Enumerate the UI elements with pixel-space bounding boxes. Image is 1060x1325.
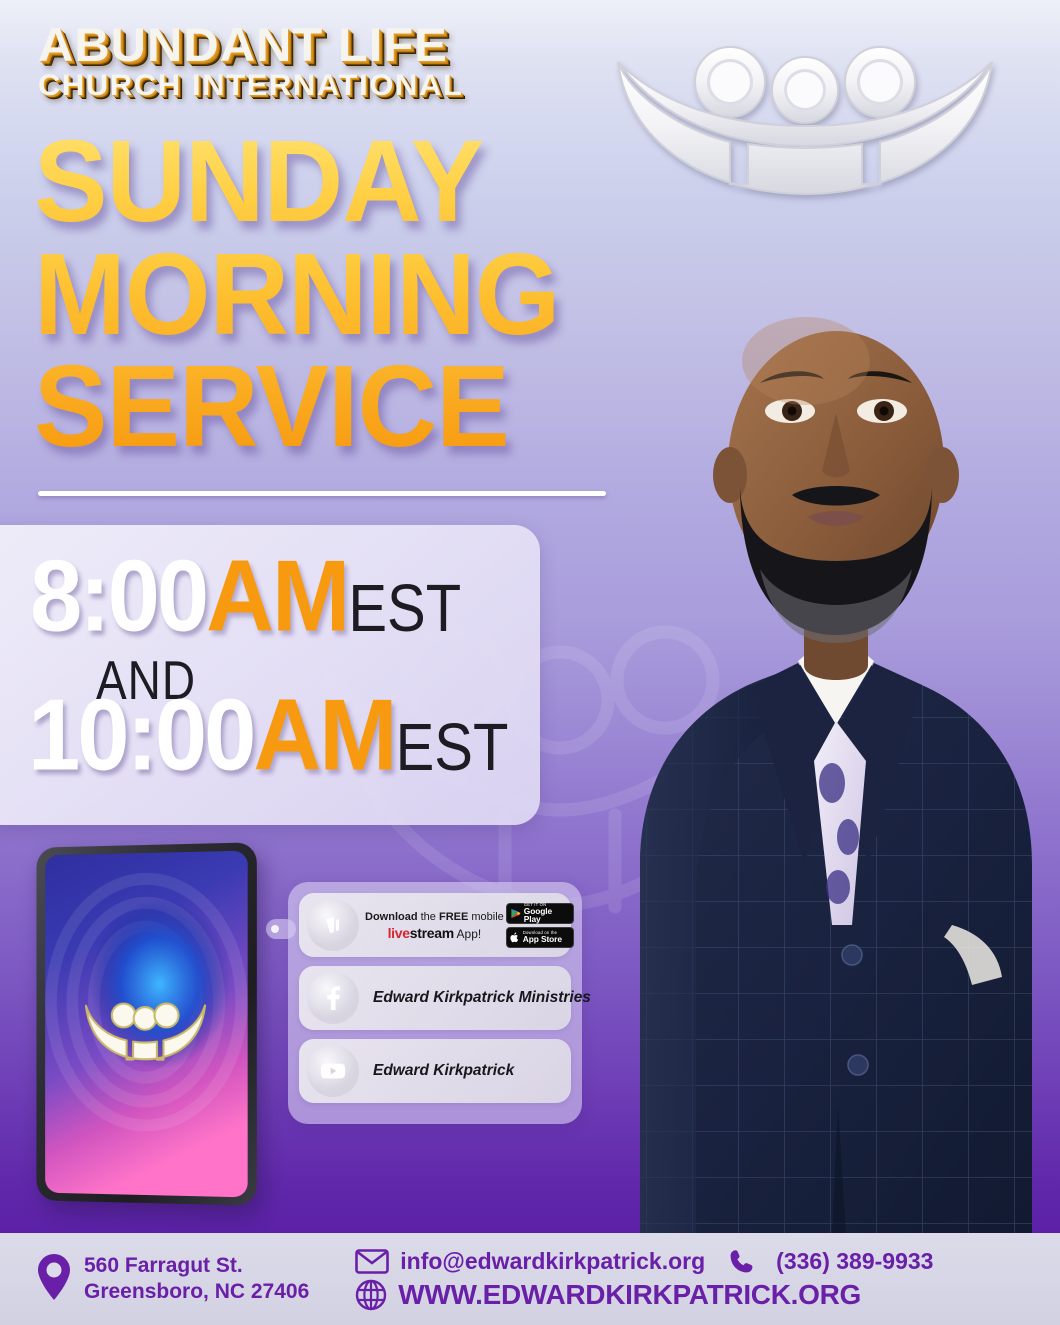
app-store-badge[interactable]: Download on the App Store <box>506 927 574 948</box>
google-play-badge-text: GET IT ON Google Play <box>524 903 570 924</box>
google-play-badge[interactable]: GET IT ON Google Play <box>506 903 574 924</box>
google-play-big: Google Play <box>524 907 570 924</box>
livestream-line-2: livestream App! <box>388 927 482 941</box>
footer-email[interactable]: info@edwardkirkpatrick.org <box>400 1248 705 1275</box>
logo-line-1: ABUNDANT LIFE <box>38 22 468 68</box>
youtube-icon <box>307 1045 359 1097</box>
tablet-screen <box>45 851 248 1198</box>
footer-phone[interactable]: (336) 389-9933 <box>776 1248 933 1275</box>
first-time-timezone: EST <box>348 576 461 643</box>
service-time-second: 10:00AMEST <box>28 688 508 782</box>
app-store-badge-text: Download on the App Store <box>523 931 562 944</box>
the-word: the <box>418 911 439 923</box>
footer-contact-block: info@edwardkirkpatrick.org (336) 389-993… <box>355 1248 933 1311</box>
page-title: SUNDAY MORNING SERVICE <box>34 128 530 450</box>
livestream-brand: livestream <box>388 925 454 941</box>
facebook-page-name: Edward Kirkpatrick Ministries <box>363 989 591 1007</box>
second-time-value: 10:00 <box>28 684 253 786</box>
footer-row-website: WWW.EDWARDKIRKPATRICK.ORG <box>355 1279 933 1311</box>
free-word: FREE <box>439 911 468 923</box>
church-logo-wordmark: ABUNDANT LIFE CHURCH INTERNATIONAL <box>38 22 451 101</box>
facebook-link-card[interactable]: Edward Kirkpatrick Ministries <box>299 966 571 1030</box>
pastor-portrait <box>600 165 1060 1235</box>
flyer-canvas: ABUNDANT LIFE CHURCH INTERNATIONAL SUNDA… <box>0 0 1060 1325</box>
second-time-timezone: EST <box>396 715 509 782</box>
mobile-word: mobile <box>468 911 503 923</box>
footer-address-block: 560 Farragut St. Greensboro, NC 27406 <box>36 1253 309 1306</box>
app-store-big: App Store <box>523 935 562 943</box>
first-time-meridiem: AM <box>206 545 348 647</box>
headline-divider <box>38 491 606 496</box>
livestream-brand-red: live <box>388 925 410 941</box>
google-play-icon <box>510 908 521 919</box>
livestream-line-1: Download the FREE mobile <box>365 911 504 923</box>
footer-contact-bar: 560 Farragut St. Greensboro, NC 27406 in… <box>0 1233 1060 1325</box>
logo-line-2: CHURCH INTERNATIONAL <box>38 71 463 101</box>
address-line-2: Greensboro, NC 27406 <box>84 1279 309 1305</box>
panel-connector-tab <box>266 919 296 939</box>
livestream-app-icon <box>307 899 359 951</box>
livestream-brand-dark: stream <box>410 925 454 941</box>
download-word: Download <box>365 911 418 923</box>
envelope-icon <box>355 1249 389 1274</box>
location-pin-icon <box>36 1253 72 1306</box>
tablet-preview <box>36 842 256 1205</box>
apple-icon <box>510 932 520 943</box>
headline-line-1: SUNDAY <box>34 128 559 236</box>
footer-address-text: 560 Farragut St. Greensboro, NC 27406 <box>84 1253 309 1304</box>
footer-row-email-phone: info@edwardkirkpatrick.org (336) 389-993… <box>355 1248 933 1275</box>
social-links-panel: Download the FREE mobile livestream App! <box>288 882 582 1124</box>
second-time-meridiem: AM <box>253 684 395 786</box>
address-line-1: 560 Farragut St. <box>84 1253 309 1279</box>
globe-icon <box>355 1279 387 1311</box>
app-word: App! <box>454 927 481 941</box>
headline-line-3: SERVICE <box>34 353 559 461</box>
footer-website[interactable]: WWW.EDWARDKIRKPATRICK.ORG <box>398 1279 861 1311</box>
headline-line-2: MORNING <box>34 241 559 349</box>
livestream-text: Download the FREE mobile livestream App! <box>363 907 506 943</box>
service-time-first: 8:00AMEST <box>30 549 461 643</box>
facebook-icon <box>307 972 359 1024</box>
livestream-app-card[interactable]: Download the FREE mobile livestream App! <box>299 893 571 957</box>
first-time-value: 8:00 <box>30 545 206 647</box>
youtube-channel-name: Edward Kirkpatrick <box>363 1062 563 1080</box>
store-badges: GET IT ON Google Play Download on the Ap… <box>506 903 574 948</box>
service-times-panel: 8:00AMEST AND 10:00AMEST <box>0 525 540 825</box>
youtube-link-card[interactable]: Edward Kirkpatrick <box>299 1039 571 1103</box>
phone-icon <box>729 1248 755 1274</box>
